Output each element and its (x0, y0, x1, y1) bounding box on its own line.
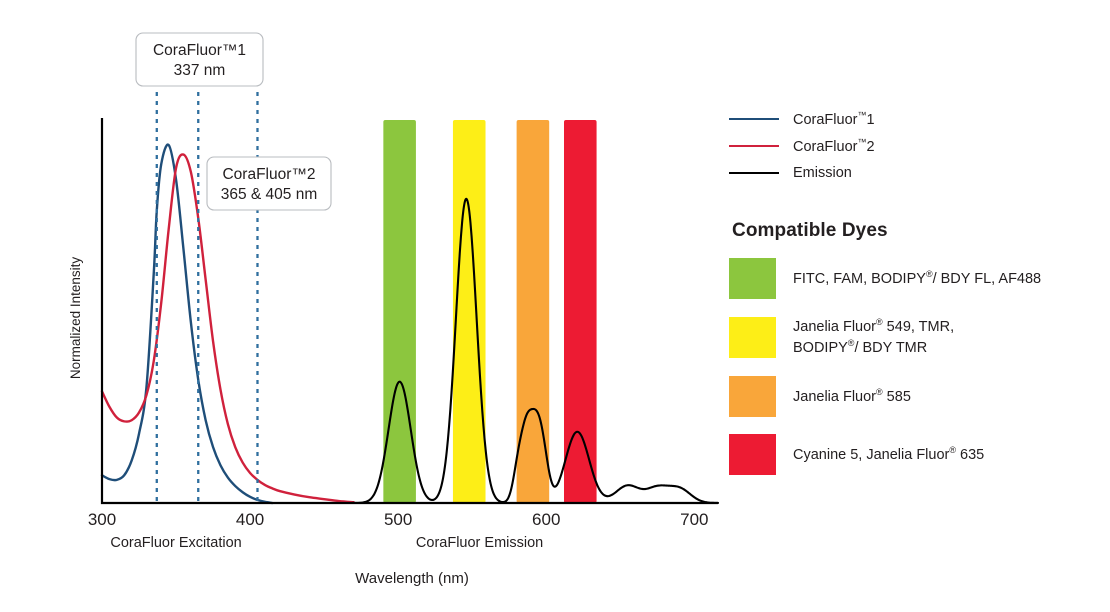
y-axis-title: Normalized Intensity (68, 257, 83, 380)
legend-item-label: CoraFluor™2 (793, 137, 875, 155)
dye-item-4: Cyanine 5, Janelia Fluor® 635 (729, 434, 1099, 475)
legend-item-2: CoraFluor™2 (729, 132, 1099, 159)
dye-item-label: Cyanine 5, Janelia Fluor® 635 (793, 444, 984, 465)
xtick-label-700: 700 (680, 510, 708, 529)
callout-2-line1: CoraFluor™2 (222, 166, 315, 183)
dye-item-2: Janelia Fluor® 549, TMR,BODIPY®/ BDY TMR (729, 316, 1099, 359)
compatible-dyes-list: FITC, FAM, BODIPY®/ BDY FL, AF488Janelia… (729, 258, 1099, 475)
chart-figure: 300400500600700CoraFluor ExcitationCoraF… (0, 0, 1110, 612)
callout-2-line2: 365 & 405 nm (221, 186, 318, 203)
dye-color-swatch (729, 317, 776, 358)
callout-2: CoraFluor™2365 & 405 nm (207, 157, 331, 210)
dye-item-label: Janelia Fluor® 549, TMR,BODIPY®/ BDY TMR (793, 316, 954, 359)
dye-item-label: Janelia Fluor® 585 (793, 386, 911, 407)
band-green (383, 120, 416, 503)
dye-color-swatch (729, 376, 776, 417)
dye-item-1: FITC, FAM, BODIPY®/ BDY FL, AF488 (729, 258, 1099, 299)
xtick-label-300: 300 (88, 510, 116, 529)
region-label-0: CoraFluor Excitation (110, 535, 241, 551)
dye-item-3: Janelia Fluor® 585 (729, 376, 1099, 417)
legend-item-1: CoraFluor™1 (729, 105, 1099, 132)
legend-item-label: Emission (793, 165, 852, 181)
callout-1-line2: 337 nm (174, 62, 226, 79)
dye-color-swatch (729, 434, 776, 475)
xtick-label-500: 500 (384, 510, 412, 529)
legend-line-swatch (729, 145, 779, 147)
region-label-1: CoraFluor Emission (416, 535, 543, 551)
xtick-label-600: 600 (532, 510, 560, 529)
series-legend: CoraFluor™1CoraFluor™2Emission (729, 105, 1099, 186)
legend-line-swatch (729, 118, 779, 120)
right-panel: CoraFluor™1CoraFluor™2Emission Compatibl… (729, 105, 1099, 492)
legend-item-3: Emission (729, 159, 1099, 186)
band-yellow (453, 120, 486, 503)
dye-color-swatch (729, 258, 776, 299)
xtick-label-400: 400 (236, 510, 264, 529)
dye-item-label: FITC, FAM, BODIPY®/ BDY FL, AF488 (793, 268, 1041, 289)
compatible-dyes-title: Compatible Dyes (732, 220, 1099, 242)
x-axis-title: Wavelength (nm) (355, 570, 469, 587)
emission-filter-bands (383, 120, 596, 503)
legend-item-label: CoraFluor™1 (793, 110, 875, 128)
callout-1: CoraFluor™1337 nm (136, 33, 263, 86)
callout-1-line1: CoraFluor™1 (153, 42, 246, 59)
legend-line-swatch (729, 172, 779, 174)
